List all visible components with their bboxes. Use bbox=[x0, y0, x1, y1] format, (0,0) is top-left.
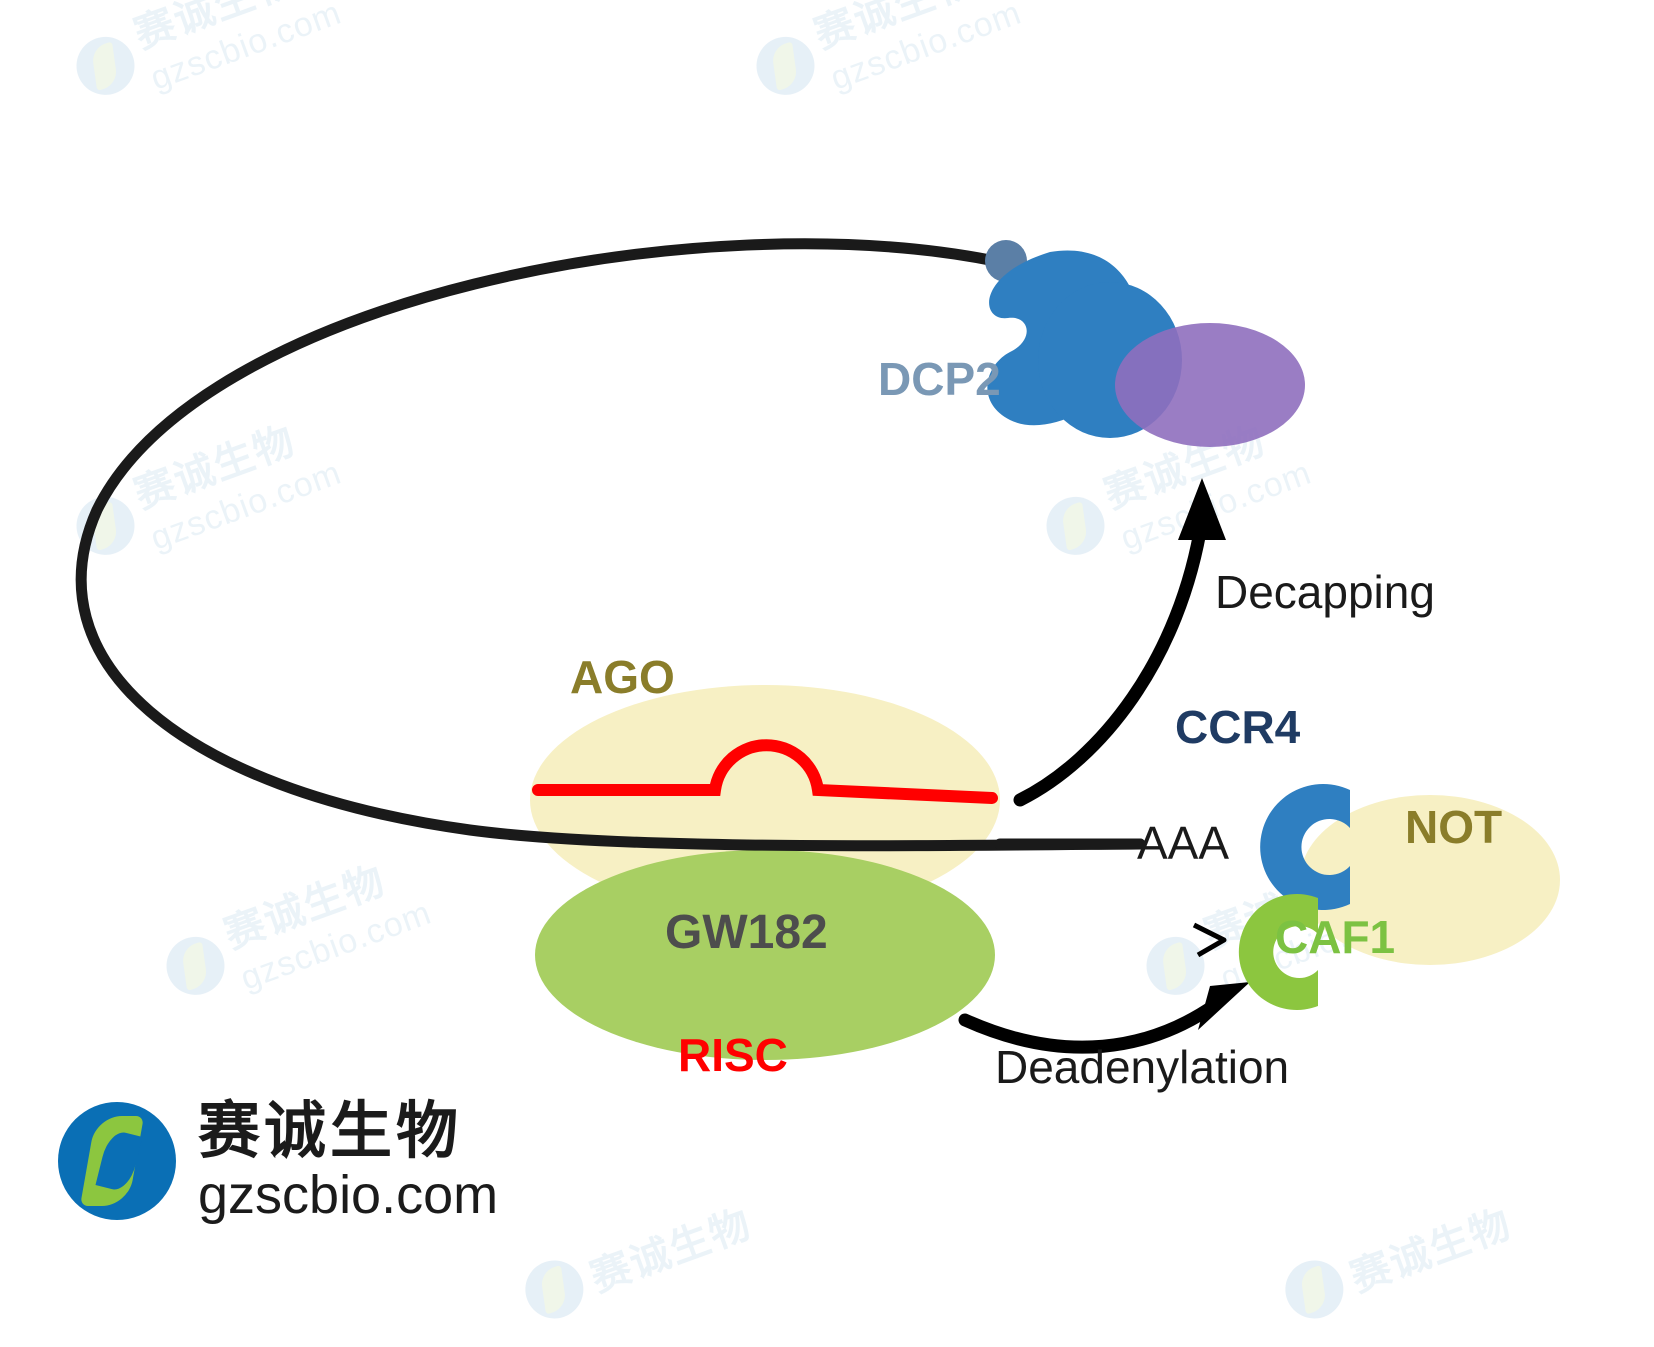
brand-logo-en: gzscbio.com bbox=[198, 1167, 498, 1224]
label-ago: AGO bbox=[570, 650, 675, 704]
brand-logo: 赛诚生物 gzscbio.com bbox=[58, 1098, 498, 1224]
label-polya: AAA bbox=[1137, 816, 1229, 870]
label-decapping: Decapping bbox=[1215, 565, 1435, 619]
brand-logo-icon bbox=[58, 1102, 176, 1220]
label-deadenylation: Deadenylation bbox=[995, 1040, 1289, 1094]
dcp2-purple-lobe bbox=[1115, 323, 1305, 447]
brand-logo-cn: 赛诚生物 bbox=[198, 1098, 498, 1163]
label-caf1: CAF1 bbox=[1275, 910, 1395, 964]
small-arrow-icon bbox=[1194, 925, 1224, 955]
label-not: NOT bbox=[1405, 800, 1502, 854]
diagram-canvas: 赛诚生物 gzscbio.com 赛诚生物 gzscbio.com 赛诚生物 bbox=[0, 0, 1654, 1347]
label-dcp2: DCP2 bbox=[878, 352, 1001, 406]
label-gw182: GW182 bbox=[665, 905, 828, 960]
label-ccr4: CCR4 bbox=[1175, 700, 1300, 754]
label-risc: RISC bbox=[678, 1028, 788, 1082]
deadenylation-arrow bbox=[965, 982, 1250, 1047]
